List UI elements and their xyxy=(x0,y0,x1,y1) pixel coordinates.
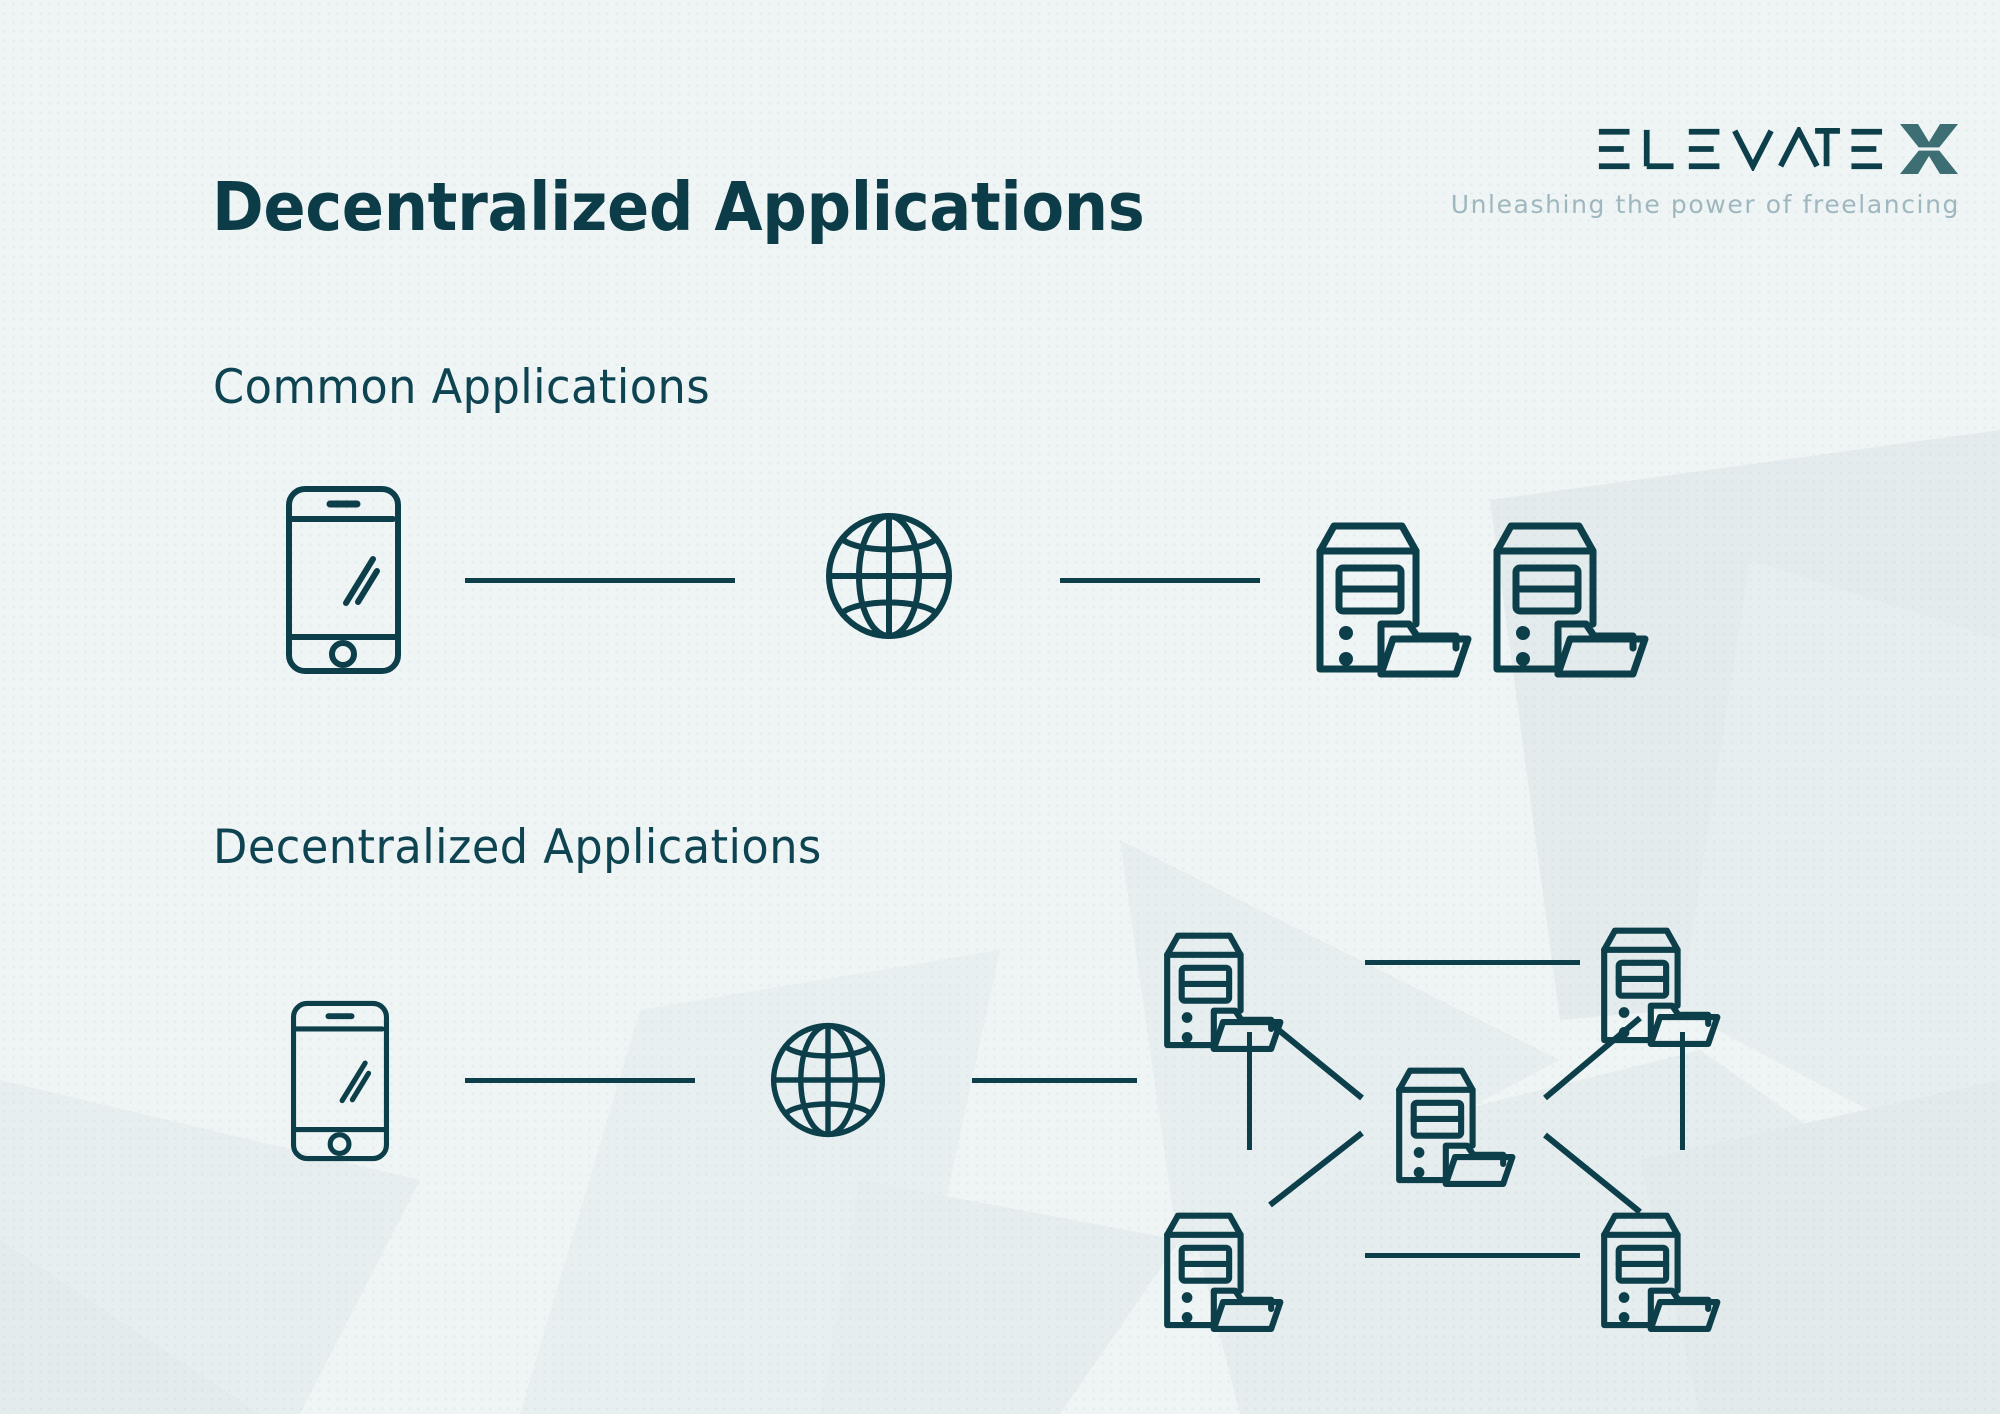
connector-phone-to-globe xyxy=(465,1078,695,1083)
mesh-link-center-to-bottom-left xyxy=(1270,1133,1362,1205)
connector-globe-to-network xyxy=(972,1078,1137,1083)
server-node-bottom-left xyxy=(1158,1205,1288,1335)
globe-icon xyxy=(825,512,953,640)
brand-lockup: Unleashing the power of freelancing xyxy=(1451,118,1960,219)
mesh-link-top xyxy=(1365,960,1580,965)
brand-tagline: Unleashing the power of freelancing xyxy=(1451,190,1960,219)
server-node-top-left xyxy=(1158,925,1288,1055)
section-heading-decentralized: Decentralized Applications xyxy=(213,820,822,875)
server-icon-1 xyxy=(1308,512,1478,682)
slide-canvas: Decentralized Applications xyxy=(0,0,2000,1414)
server-node-top-right xyxy=(1595,920,1725,1050)
server-node-bottom-right xyxy=(1595,1205,1725,1335)
connector-globe-to-server xyxy=(1060,578,1260,583)
mesh-link-bottom xyxy=(1365,1253,1580,1258)
server-icon-2 xyxy=(1485,512,1655,682)
page-title: Decentralized Applications xyxy=(212,168,1144,246)
elevate-wordmark xyxy=(1597,127,1884,171)
smartphone-icon xyxy=(290,1000,390,1162)
elevate-x-logo-mark xyxy=(1898,118,1960,180)
section-heading-common: Common Applications xyxy=(213,360,710,415)
connector-phone-to-globe xyxy=(465,578,735,583)
globe-icon xyxy=(770,1022,886,1138)
mesh-link-center-to-bottom-right xyxy=(1545,1135,1640,1212)
smartphone-icon xyxy=(285,485,402,675)
server-node-center xyxy=(1390,1060,1520,1190)
